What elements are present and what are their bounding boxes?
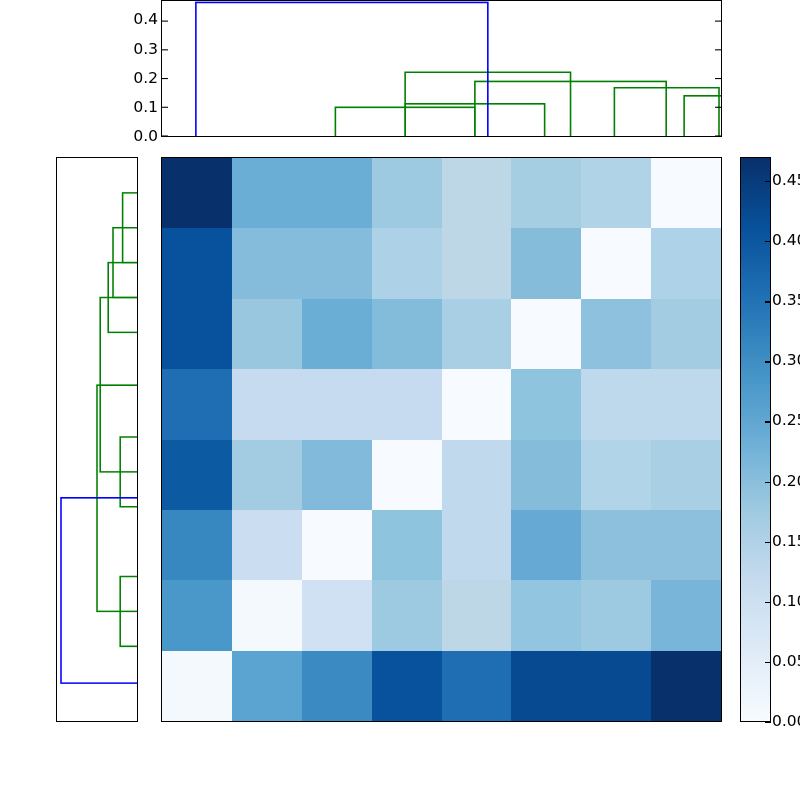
heatmap-cell-r1-c3 [302,158,372,228]
heatmap-cell-r4-c1 [162,369,232,439]
heatmap-cell-r4-c8 [651,369,721,439]
row-dendrogram-panel[interactable] [56,157,138,722]
heatmap-cell-r7-c1 [162,580,232,650]
heatmap-cell-r2-c8 [651,228,721,298]
heatmap-cell-r3-c4 [372,299,442,369]
heatmap-grid [162,158,721,721]
colorbar-tick-0.05: 0.05 [772,654,800,670]
colorbar-tick-0.10: 0.10 [772,594,800,610]
heatmap-cell-r8-c8 [651,651,721,721]
colorbar-tickmark [765,241,771,242]
heatmap-cell-r2-c1 [162,228,232,298]
heatmap-cell-r3-c2 [232,299,302,369]
colorbar-tick-0.00: 0.00 [772,714,800,730]
heatmap-cell-r3-c6 [511,299,581,369]
colorbar-tickmark [765,301,771,302]
heatmap-cell-r2-c2 [232,228,302,298]
heatmap-cell-r7-c3 [302,580,372,650]
colorbar-tick-labels: 0.000.050.100.150.200.250.300.350.400.45 [772,157,800,722]
heatmap-cell-r3-c8 [651,299,721,369]
colorbar-tick-0.40: 0.40 [772,233,800,249]
heatmap-cell-r4-c6 [511,369,581,439]
heatmap-cell-r2-c7 [581,228,651,298]
heatmap-cell-r8-c3 [302,651,372,721]
heatmap-cell-r4-c3 [302,369,372,439]
heatmap-cell-r6-c2 [232,510,302,580]
heatmap-cell-r5-c4 [372,440,442,510]
column-dendrogram-svg [162,1,721,136]
top-dendrogram-ytick-0.3: 0.3 [120,42,158,58]
colorbar-tick-0.45: 0.45 [772,173,800,189]
heatmap-cell-r8-c7 [581,651,651,721]
heatmap-cell-r8-c1 [162,651,232,721]
dendrogram-link-top-7 [196,2,488,136]
heatmap-cell-r4-c4 [372,369,442,439]
heatmap-cell-r5-c3 [302,440,372,510]
heatmap-cell-r3-c5 [442,299,512,369]
heatmap-cell-r7-c8 [651,580,721,650]
heatmap-cell-r6-c6 [511,510,581,580]
heatmap-cell-r6-c7 [581,510,651,580]
colorbar-tickmark [765,662,771,663]
heatmap-cell-r5-c1 [162,440,232,510]
heatmap-cell-r8-c5 [442,651,512,721]
heatmap-cell-r1-c2 [232,158,302,228]
colorbar-tick-0.35: 0.35 [772,293,800,309]
heatmap-cell-r1-c8 [651,158,721,228]
column-dendrogram-panel[interactable] [161,0,722,137]
colorbar-tickmark [765,602,771,603]
dendrogram-link-top-3 [684,96,721,136]
heatmap-cell-r6-c5 [442,510,512,580]
heatmap-cell-r5-c6 [511,440,581,510]
heatmap-cell-r1-c7 [581,158,651,228]
colorbar-tick-0.20: 0.20 [772,474,800,490]
heatmap-cell-r3-c7 [581,299,651,369]
heatmap-cell-r4-c2 [232,369,302,439]
heatmap-cell-r7-c4 [372,580,442,650]
colorbar-tick-0.30: 0.30 [772,353,800,369]
heatmap-cell-r2-c5 [442,228,512,298]
top-dendrogram-ytick-0.1: 0.1 [120,100,158,116]
heatmap-cell-r5-c8 [651,440,721,510]
heatmap-cell-r2-c3 [302,228,372,298]
top-dendrogram-ytick-0.0: 0.0 [120,129,158,145]
heatmap-cell-r6-c1 [162,510,232,580]
top-dendrogram-ytick-0.2: 0.2 [120,71,158,87]
heatmap-cell-r1-c6 [511,158,581,228]
heatmap-cell-r1-c1 [162,158,232,228]
heatmap-cell-r7-c7 [581,580,651,650]
dendrogram-link-left-8 [61,498,137,683]
heatmap-cell-r6-c3 [302,510,372,580]
heatmap-cell-r8-c2 [232,651,302,721]
colorbar-tickmark [765,722,771,723]
heatmap-cell-r5-c2 [232,440,302,510]
heatmap-cell-r7-c2 [232,580,302,650]
heatmap-cell-r5-c5 [442,440,512,510]
heatmap-cell-r3-c3 [302,299,372,369]
heatmap-cell-r5-c7 [581,440,651,510]
colorbar-gradient [741,158,770,721]
top-dendrogram-ytick-0.4: 0.4 [120,12,158,28]
heatmap-cell-r8-c4 [372,651,442,721]
top-dendrogram-ytick-labels: 0.00.10.20.30.4 [100,0,158,137]
heatmap-cell-r6-c4 [372,510,442,580]
heatmap-cell-r7-c6 [511,580,581,650]
colorbar-tickmark [765,361,771,362]
heatmap-cell-r4-c5 [442,369,512,439]
colorbar-tickmark [765,482,771,483]
heatmap-panel[interactable] [161,157,722,722]
heatmap-cell-r4-c7 [581,369,651,439]
colorbar-tickmark [765,542,771,543]
colorbar-tickmark [765,421,771,422]
colorbar-tick-0.15: 0.15 [772,534,800,550]
heatmap-cell-r6-c8 [651,510,721,580]
heatmap-cell-r3-c1 [162,299,232,369]
row-dendrogram-svg [57,158,137,721]
colorbar-tickmark [765,181,771,182]
heatmap-cell-r1-c5 [442,158,512,228]
heatmap-cell-r8-c6 [511,651,581,721]
heatmap-cell-r2-c6 [511,228,581,298]
heatmap-cell-r7-c5 [442,580,512,650]
colorbar-tick-0.25: 0.25 [772,413,800,429]
heatmap-cell-r1-c4 [372,158,442,228]
heatmap-cell-r2-c4 [372,228,442,298]
